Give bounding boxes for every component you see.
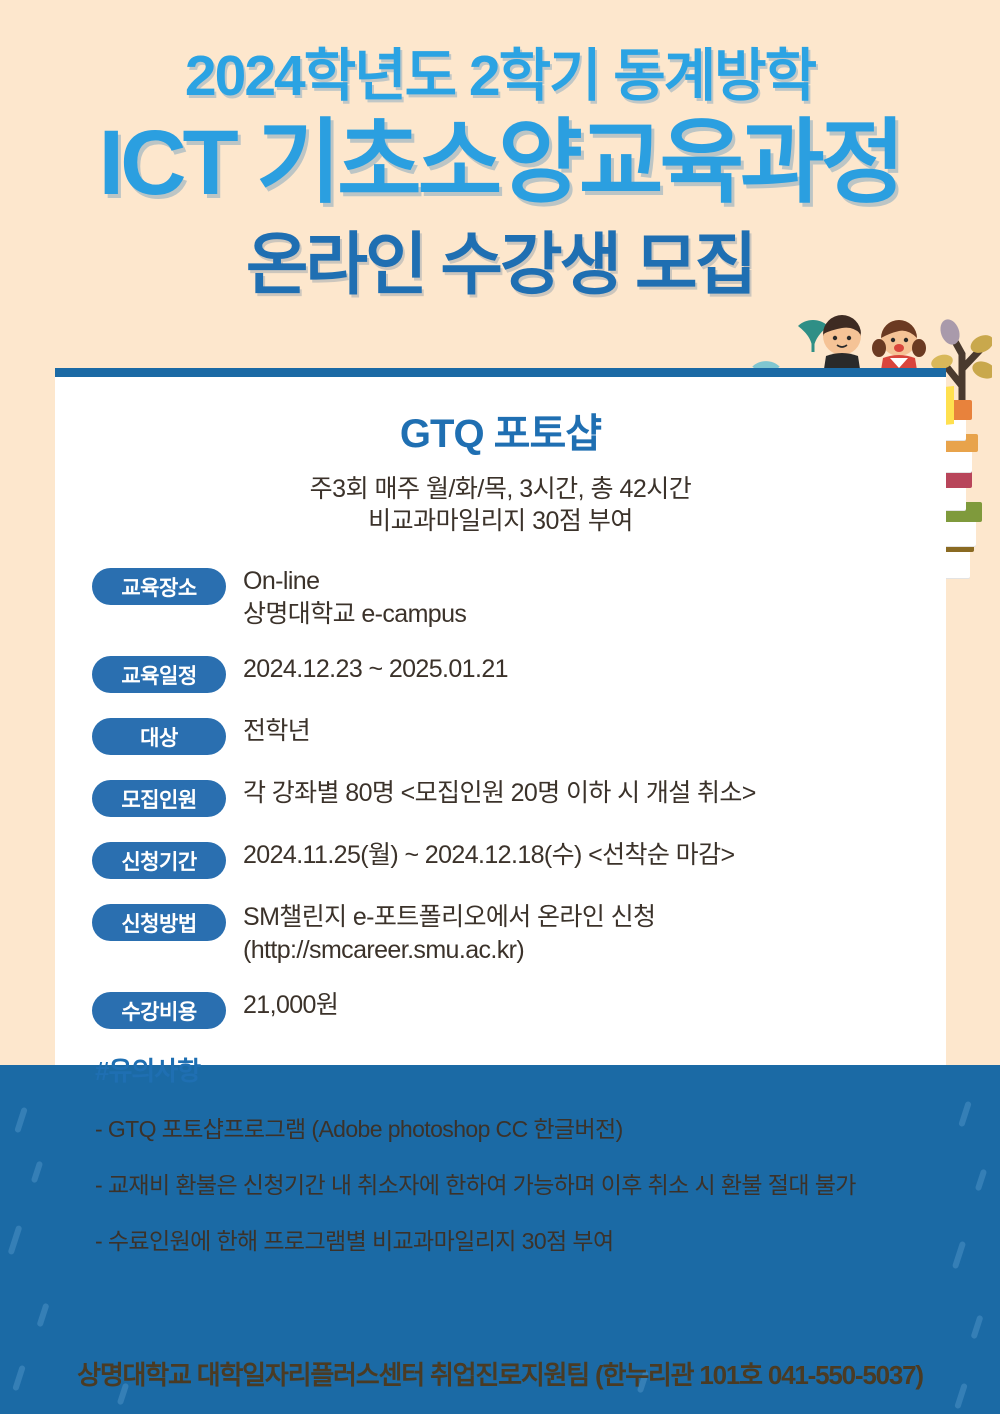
notes-section: #유의사항 - GTQ 포토샵프로그램 (Adobe photoshop CC … — [55, 1051, 946, 1256]
header-line-2: ICT 기초소양교육과정 — [0, 117, 1000, 209]
info-value-apply-method-line1: SM챌린지 e-포트폴리오에서 온라인 신청 — [243, 903, 655, 931]
info-label-schedule: 교육일정 — [92, 656, 226, 693]
info-row-location: 교육장소 On-line 상명대학교 e-campus — [92, 565, 946, 631]
content-card: GTQ 포토샵 주3회 매주 월/화/목, 3시간, 총 42시간 비교과마일리… — [55, 368, 946, 1347]
info-row-target: 대상 전학년 — [92, 715, 946, 755]
info-value-location-line1: On-line — [243, 567, 319, 595]
info-value-fee: 21,000원 — [243, 989, 338, 1022]
info-value-apply-period: 2024.11.25(월) ~ 2024.12.18(수) <선착순 마감> — [243, 839, 734, 872]
info-label-apply-period: 신청기간 — [92, 842, 226, 879]
info-value-capacity: 각 강좌별 80명 <모집인원 20명 이하 시 개설 취소> — [243, 777, 756, 810]
info-row-list: 교육장소 On-line 상명대학교 e-campus 교육일정 2024.12… — [55, 565, 946, 1029]
info-value-location: On-line 상명대학교 e-campus — [243, 565, 466, 631]
course-subtitle-line-2: 비교과마일리지 30점 부여 — [55, 505, 946, 537]
ginkgo-leaf-icon — [790, 310, 836, 356]
note-item-2: - 교재비 환불은 신청기간 내 취소자에 한하여 가능하며 이후 취소 시 환… — [95, 1166, 946, 1200]
info-row-apply-period: 신청기간 2024.11.25(월) ~ 2024.12.18(수) <선착순 … — [92, 839, 946, 879]
course-subtitle-line-1: 주3회 매주 월/화/목, 3시간, 총 42시간 — [55, 473, 946, 505]
info-row-apply-method: 신청방법 SM챌린지 e-포트폴리오에서 온라인 신청 (http://smca… — [92, 901, 946, 967]
apply-url-link[interactable]: (http://smcareer.smu.ac.kr) — [243, 934, 655, 967]
info-label-fee: 수강비용 — [92, 992, 226, 1029]
header-line-3: 온라인 수강생 모집 — [0, 231, 1000, 299]
footer-contact: 상명대학교 대학일자리플러스센터 취업진로지원팀 (한누리관 101호 041-… — [0, 1355, 1000, 1392]
info-value-schedule: 2024.12.23 ~ 2025.01.21 — [243, 653, 508, 686]
info-value-target: 전학년 — [243, 715, 310, 748]
info-label-target: 대상 — [92, 718, 226, 755]
poster-header: 2024학년도 2학기 동계방학 ICT 기초소양교육과정 온라인 수강생 모집 — [0, 0, 1000, 368]
info-row-schedule: 교육일정 2024.12.23 ~ 2025.01.21 — [92, 653, 946, 693]
info-label-capacity: 모집인원 — [92, 780, 226, 817]
course-subtitle: 주3회 매주 월/화/목, 3시간, 총 42시간 비교과마일리지 30점 부여 — [55, 473, 946, 537]
course-title: GTQ 포토샵 — [55, 401, 946, 459]
note-item-3: - 수료인원에 한해 프로그램별 비교과마일리지 30점 부여 — [95, 1222, 946, 1256]
info-row-capacity: 모집인원 각 강좌별 80명 <모집인원 20명 이하 시 개설 취소> — [92, 777, 946, 817]
info-row-fee: 수강비용 21,000원 — [92, 989, 946, 1029]
info-value-apply-method: SM챌린지 e-포트폴리오에서 온라인 신청 (http://smcareer.… — [243, 901, 655, 967]
info-label-location: 교육장소 — [92, 568, 226, 605]
header-line-1: 2024학년도 2학기 동계방학 — [0, 48, 1000, 105]
note-item-1: - GTQ 포토샵프로그램 (Adobe photoshop CC 한글버전) — [95, 1110, 946, 1144]
notes-heading: #유의사항 — [95, 1051, 946, 1088]
poster-root: 2024학년도 2학기 동계방학 ICT 기초소양교육과정 온라인 수강생 모집 — [0, 0, 1000, 1414]
info-value-location-line2: 상명대학교 e-campus — [243, 598, 466, 631]
info-label-apply-method: 신청방법 — [92, 904, 226, 941]
